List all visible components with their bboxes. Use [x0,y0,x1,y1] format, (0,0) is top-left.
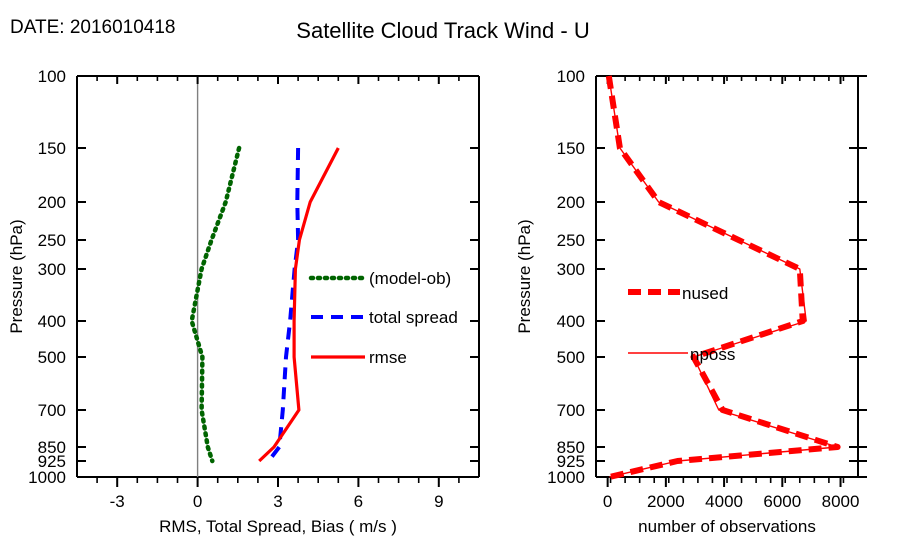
left-legend-label-1: total spread [369,308,458,327]
left-ytick-label: 400 [38,312,66,331]
chart-title: Satellite Cloud Track Wind - U [296,18,589,43]
right-xtick-label: 8000 [822,492,860,511]
left-ytick-label: 700 [38,401,66,420]
left-ytick-label: 250 [38,231,66,250]
right-ytick-label: 500 [557,348,585,367]
right-ytick-label: 100 [557,67,585,86]
left-x-axis-label: RMS, Total Spread, Bias ( m/s ) [159,517,397,536]
left-ytick-label: 500 [38,348,66,367]
left-xtick-label: 6 [354,492,363,511]
left-series-modelob [192,148,239,461]
left-xtick-label: 0 [193,492,202,511]
left-xtick-label: 3 [273,492,282,511]
date-label: DATE: 2016010418 [10,17,176,38]
left-ytick-label: 100 [38,67,66,86]
right-legend-label-0: nused [682,284,728,303]
chart-canvas: 1001502002503004005007008509251000-30369… [0,0,900,560]
right-xtick-label: 6000 [763,492,801,511]
right-series-nposs [609,76,838,477]
right-xtick-label: 4000 [705,492,743,511]
left-legend-label-0: (model-ob) [369,269,451,288]
right-xtick-label: 2000 [647,492,685,511]
right-ytick-label: 200 [557,193,585,212]
right-ytick-label: 700 [557,401,585,420]
left-ytick-label: 150 [38,139,66,158]
right-ytick-label: 400 [557,312,585,331]
left-xtick-label: 9 [434,492,443,511]
right-ytick-label: 300 [557,260,585,279]
right-legend-label-1: nposs [690,345,735,364]
left-ytick-label: 300 [38,260,66,279]
right-ytick-label: 250 [557,231,585,250]
left-ytick-label: 1000 [28,468,66,487]
right-xtick-label: 0 [603,492,612,511]
left-legend-label-2: rmse [369,348,407,367]
right-ytick-label: 150 [557,139,585,158]
profile-plot-figure: 1001502002503004005007008509251000-30369… [0,0,900,560]
left-y-axis-label: Pressure (hPa) [7,219,26,333]
left-xtick-label: -3 [110,492,125,511]
right-series-nused [609,76,838,477]
left-ytick-label: 200 [38,193,66,212]
right-y-axis-label: Pressure (hPa) [515,219,534,333]
right-ytick-label: 1000 [547,468,585,487]
right-x-axis-label: number of observations [638,517,816,536]
